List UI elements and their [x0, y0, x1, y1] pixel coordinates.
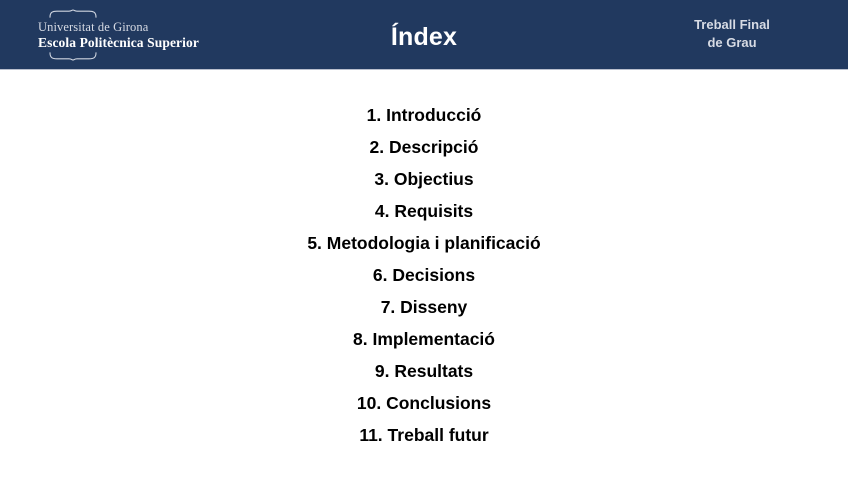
list-item-label: Metodologia i planificació — [327, 233, 541, 253]
list-item: 7. Disseny — [0, 291, 848, 323]
list-item-number: 9. — [375, 361, 394, 381]
list-item: 1. Introducció — [0, 99, 848, 131]
list-item-number: 10. — [357, 393, 386, 413]
list-item: 10. Conclusions — [0, 387, 848, 419]
list-item-label: Implementació — [372, 329, 495, 349]
list-item-number: 1. — [367, 105, 386, 125]
list-item-label: Disseny — [400, 297, 467, 317]
presentation-slide: Universitat de Girona Escola Politècnica… — [0, 0, 848, 477]
list-item: 2. Descripció — [0, 131, 848, 163]
header-divider — [0, 69, 848, 70]
list-item-label: Treball futur — [388, 425, 489, 445]
curly-brace-top-icon — [49, 9, 97, 18]
list-item: 9. Resultats — [0, 355, 848, 387]
header-caption-line-1: Treball Final — [652, 16, 812, 34]
list-item-label: Requisits — [394, 201, 473, 221]
curly-brace-bottom-icon — [49, 52, 97, 61]
list-item-number: 3. — [374, 169, 393, 189]
index-list: 1. Introducció 2. Descripció 3. Objectiu… — [0, 99, 848, 451]
list-item-label: Descripció — [389, 137, 478, 157]
list-item-label: Conclusions — [386, 393, 491, 413]
list-item-number: 5. — [307, 233, 326, 253]
list-item-label: Resultats — [394, 361, 473, 381]
header-caption-line-2: de Grau — [652, 34, 812, 52]
list-item: 11. Treball futur — [0, 419, 848, 451]
list-item: 3. Objectius — [0, 163, 848, 195]
list-item-number: 6. — [373, 265, 392, 285]
list-item-number: 4. — [375, 201, 394, 221]
list-item: 4. Requisits — [0, 195, 848, 227]
list-item-label: Objectius — [394, 169, 474, 189]
list-item-number: 11. — [359, 425, 387, 445]
header-caption: Treball Final de Grau — [652, 16, 812, 52]
list-item: 6. Decisions — [0, 259, 848, 291]
list-item-number: 2. — [370, 137, 389, 157]
list-item-label: Introducció — [386, 105, 481, 125]
list-item: 5. Metodologia i planificació — [0, 227, 848, 259]
list-item: 8. Implementació — [0, 323, 848, 355]
list-item-number: 8. — [353, 329, 372, 349]
list-item-number: 7. — [381, 297, 400, 317]
list-item-label: Decisions — [392, 265, 475, 285]
